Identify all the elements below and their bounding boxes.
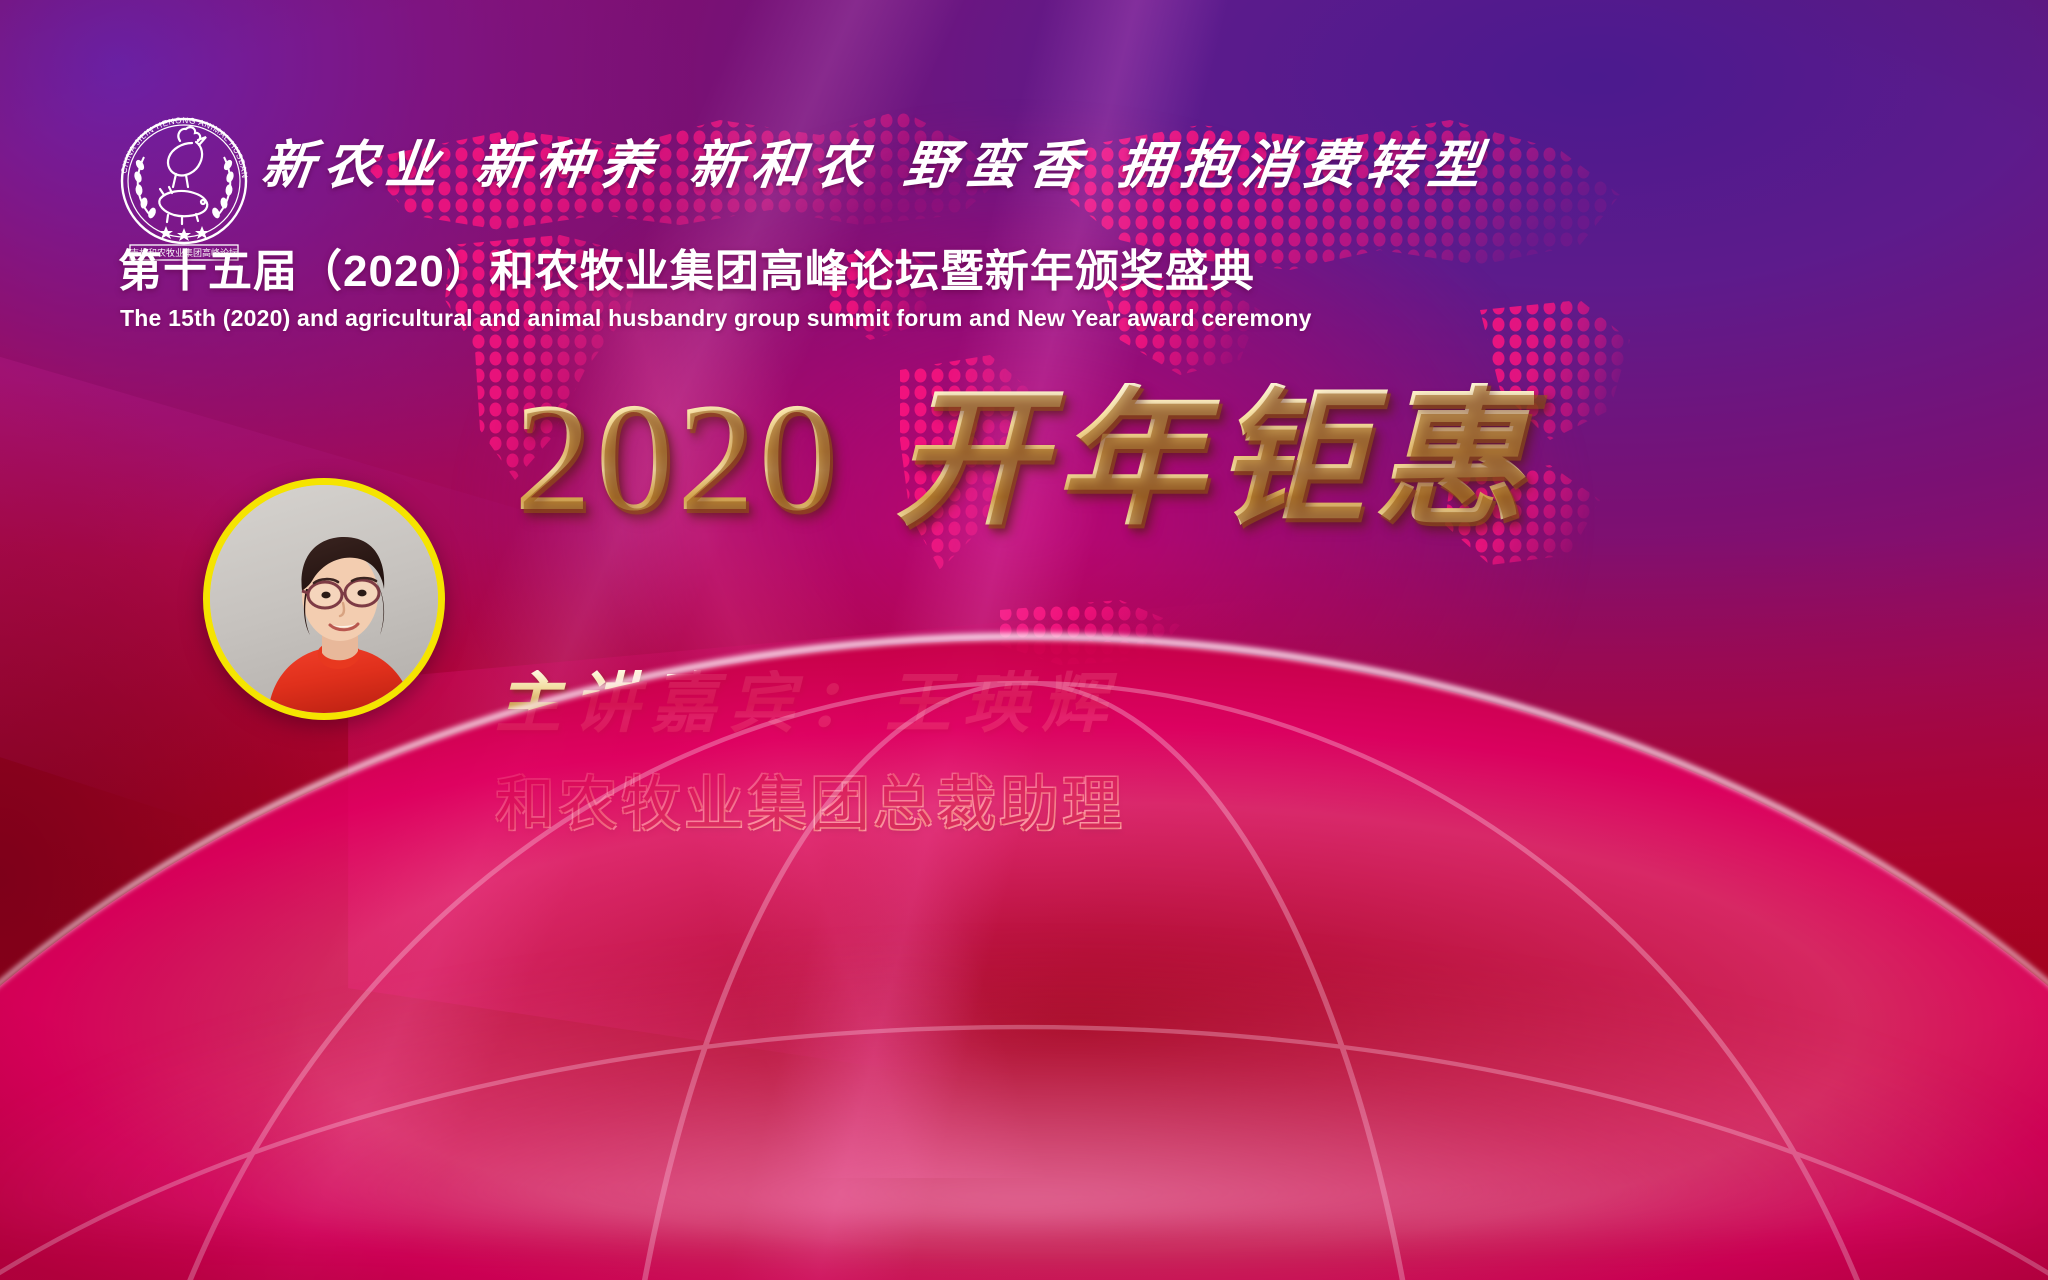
henong-group-emblem-logo: CHINA JILIN HENONG ANIMAL HUSBANDRY GROU… [110,95,258,267]
event-title-chinese: 第十五届（2020）和农牧业集团高峰论坛暨新年颁奖盛典 [118,250,1255,294]
event-title-english: The 15th (2020) and agricultural and ani… [120,307,1312,330]
promo-banner: CHINA JILIN HENONG ANIMAL HUSBANDRY GROU… [0,0,2048,1280]
globe-glow [0,845,2048,1229]
headline-year: 2020 [514,380,840,535]
speaker-portrait-avatar [203,478,445,720]
pig-icon [159,187,207,224]
headline-chinese: 开年钜惠 [894,383,1534,533]
rooster-icon [168,127,206,187]
calligraphy-slogan: 新农业 新种养 新和农 野蛮香 拥抱消费转型 [259,140,1494,192]
stars [159,226,209,241]
